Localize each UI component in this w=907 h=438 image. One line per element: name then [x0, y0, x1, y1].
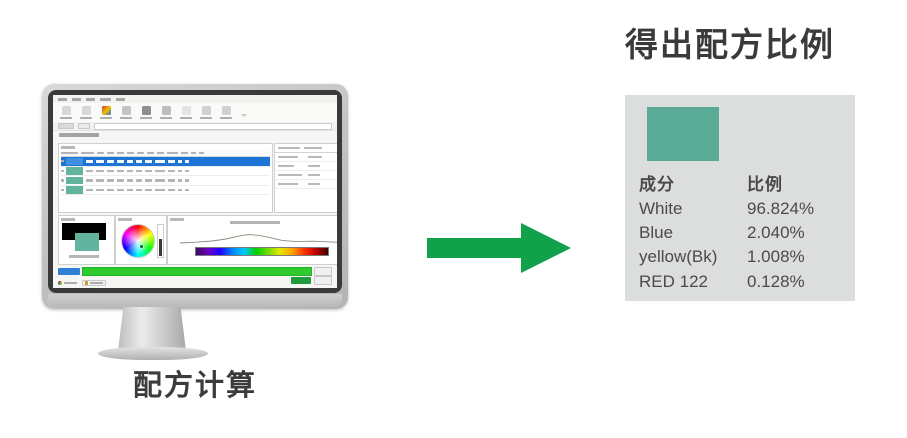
section-title: [59, 133, 99, 137]
formula-icon: [142, 106, 151, 115]
table-row[interactable]: [61, 186, 270, 196]
menu-item-4[interactable]: [100, 98, 111, 101]
progress-bar: [82, 267, 312, 276]
toolbar-button-color[interactable]: [99, 106, 113, 119]
toolbar-button-measure[interactable]: [119, 106, 133, 119]
visible-spectrum-bar: [195, 247, 329, 256]
component-name: RED 122: [639, 270, 747, 294]
side-table-header: [275, 144, 337, 153]
table-row[interactable]: [61, 157, 270, 167]
progress-action-button[interactable]: [314, 267, 332, 276]
component-name: yellow(Bk): [639, 245, 747, 269]
toolbar-label: [80, 117, 92, 120]
toolbar-button-settings[interactable]: [219, 106, 233, 119]
formula-table[interactable]: [61, 150, 270, 210]
table-row: yellow(Bk) 1.008%: [639, 245, 844, 269]
toolbar-label: [100, 117, 112, 120]
monitor-chin: [48, 294, 342, 307]
spectrum-chart-title: [230, 221, 280, 224]
side-table-row[interactable]: [275, 153, 337, 162]
color-wheel-icon[interactable]: [121, 224, 155, 258]
component-ratio: 0.128%: [747, 270, 844, 294]
result-color-swatch: [647, 107, 719, 161]
target-color-patch: [75, 233, 99, 251]
poster-stage: 得出配方比例: [0, 0, 907, 438]
toolbar-button-new[interactable]: [59, 106, 73, 119]
table-row: Blue 2.040%: [639, 221, 844, 245]
reflectance-curve: [178, 228, 337, 248]
monitor-caption: 配方计算: [42, 362, 348, 404]
color-wheel-marker[interactable]: [140, 245, 143, 248]
confirm-button[interactable]: [291, 277, 311, 284]
palette-icon: [102, 106, 111, 115]
run-button[interactable]: [58, 268, 80, 275]
header-ratio: 比例: [747, 173, 844, 197]
monitor-stand-neck: [118, 307, 186, 351]
printer-icon: [202, 106, 211, 115]
folder-small-icon: [85, 281, 89, 285]
chevron-down-icon[interactable]: [241, 114, 247, 117]
lightness-slider[interactable]: [157, 224, 164, 258]
progress-row[interactable]: [58, 267, 332, 276]
toolbar-button-report[interactable]: [179, 106, 193, 119]
component-name: White: [639, 197, 747, 221]
panel-label: [118, 218, 132, 221]
color-wheel-panel[interactable]: [115, 215, 167, 265]
component-ratio: 1.008%: [747, 245, 844, 269]
toolbar-label: [140, 117, 152, 120]
table-row: RED 122 0.128%: [639, 270, 844, 294]
status-action-button[interactable]: [82, 280, 106, 287]
group-label: [61, 146, 75, 149]
monitor-stand-base: [98, 347, 208, 360]
color-preview-panel: [58, 215, 115, 265]
green-right-arrow-icon: [425, 218, 575, 278]
toolbar-label: [200, 117, 212, 120]
toolbar-label: [220, 117, 232, 120]
footer-buttons[interactable]: [291, 276, 332, 285]
menu-item-3[interactable]: [86, 98, 95, 101]
formula-ratio-table: 成分 比例 White 96.824% Blue 2.040% yellow(B…: [639, 173, 844, 294]
measure-icon: [122, 106, 131, 115]
component-name: Blue: [639, 221, 747, 245]
toolbar-button-formula[interactable]: [139, 106, 153, 119]
lightness-slider-fill: [159, 239, 162, 256]
toolbar-label: [160, 117, 172, 120]
monitor-screen: [53, 95, 337, 288]
menu-item-5[interactable]: [116, 98, 125, 101]
toolbar-label: [180, 117, 192, 120]
component-ratio: 2.040%: [747, 221, 844, 245]
report-icon: [182, 106, 191, 115]
table-header-row: 成分 比例: [639, 173, 844, 197]
side-table-row[interactable]: [275, 171, 337, 180]
menu-item-1[interactable]: [58, 98, 67, 101]
color-status-chip[interactable]: [58, 281, 77, 285]
page-title: 得出配方比例: [625, 18, 895, 66]
table-row[interactable]: [61, 167, 270, 177]
subbar-dropdown[interactable]: [58, 123, 74, 129]
panel-label: [170, 218, 184, 221]
page-icon: [62, 106, 71, 115]
spectrum-panel: [167, 215, 337, 265]
color-dot-icon: [58, 281, 62, 285]
header-component: 成分: [639, 173, 747, 197]
toolbar-label: [60, 117, 72, 120]
cancel-button[interactable]: [314, 276, 332, 285]
toolbar-button-correct[interactable]: [159, 106, 173, 119]
panel-label: [61, 218, 75, 221]
table-row[interactable]: [61, 176, 270, 186]
menu-item-2[interactable]: [72, 98, 81, 101]
folder-icon: [82, 106, 91, 115]
formula-result-card: 成分 比例 White 96.824% Blue 2.040% yellow(B…: [625, 95, 855, 301]
formula-table-panel: [58, 143, 273, 213]
side-table-row[interactable]: [275, 162, 337, 171]
toolbar-button-open[interactable]: [79, 106, 93, 119]
side-table-row[interactable]: [275, 180, 337, 189]
component-ratio: 96.824%: [747, 197, 844, 221]
table-header-row: [61, 150, 270, 157]
monitor-illustration: [42, 84, 348, 309]
table-row: White 96.824%: [639, 197, 844, 221]
toolbar-label: [120, 117, 132, 120]
correction-icon: [162, 106, 171, 115]
gear-icon: [222, 106, 231, 115]
ingredient-side-table[interactable]: [274, 143, 337, 213]
color-formulation-app: [53, 95, 337, 288]
monitor-inner-bezel: [48, 90, 342, 293]
subbar-button[interactable]: [78, 123, 90, 129]
status-label: [64, 282, 77, 285]
status-button-label: [90, 282, 103, 285]
app-subbar[interactable]: [53, 122, 337, 131]
preview-caption: [69, 255, 99, 258]
subbar-input[interactable]: [94, 123, 332, 130]
toolbar-button-print[interactable]: [199, 106, 213, 119]
